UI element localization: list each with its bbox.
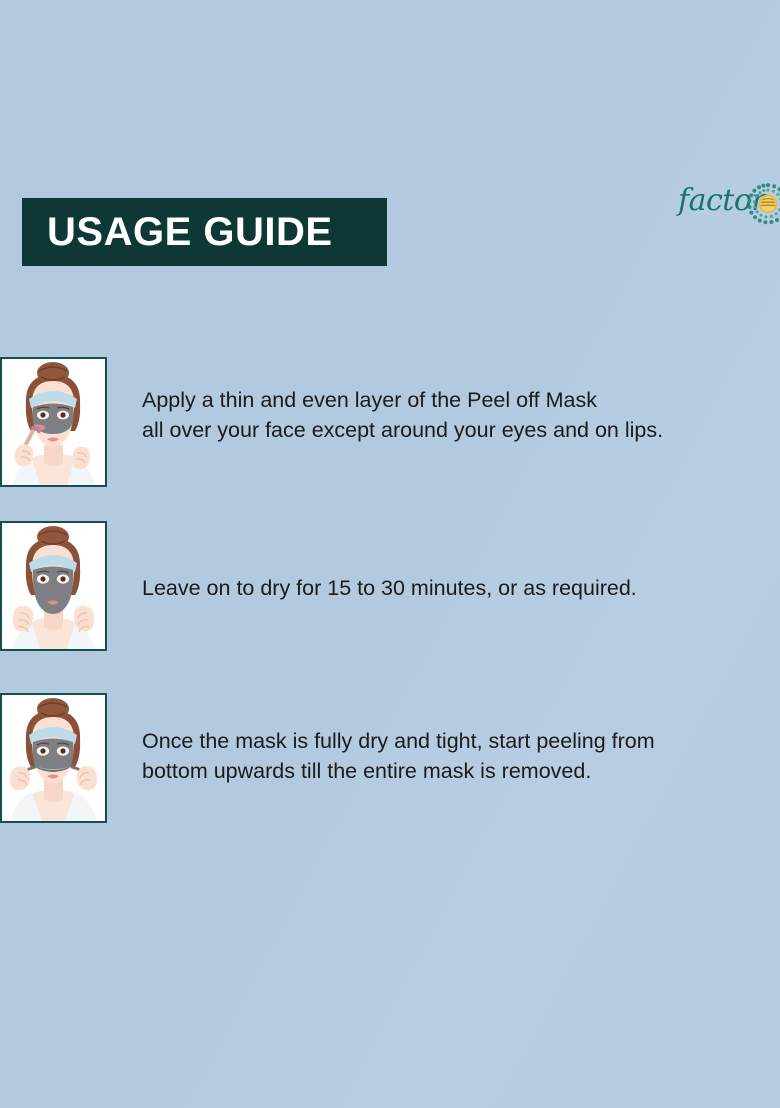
page-title: USAGE GUIDE [22,212,333,252]
step-3-illustration [0,693,107,823]
step-1-line-1: Apply a thin and even layer of the Peel … [142,385,663,415]
step-1-text: Apply a thin and even layer of the Peel … [142,385,663,445]
step-3-text: Once the mask is fully dry and tight, st… [142,726,655,786]
background-gradient-wash [0,0,780,1108]
step-1-illustration [0,357,107,487]
step-2-illustration [0,521,107,651]
wreath-circle-emblem [746,182,780,226]
usage-guide-page: USAGE GUIDE factor [0,0,780,1108]
step-3-line-1: Once the mask is fully dry and tight, st… [142,726,655,756]
step-3-line-2: bottom upwards till the entire mask is r… [142,756,655,786]
step-1-line-2: all over your face except around your ey… [142,415,663,445]
brand-logo: factor [678,178,780,236]
step-2-line-1: Leave on to dry for 15 to 30 minutes, or… [142,573,637,603]
step-2-text: Leave on to dry for 15 to 30 minutes, or… [142,573,637,603]
page-title-banner: USAGE GUIDE [22,198,387,266]
